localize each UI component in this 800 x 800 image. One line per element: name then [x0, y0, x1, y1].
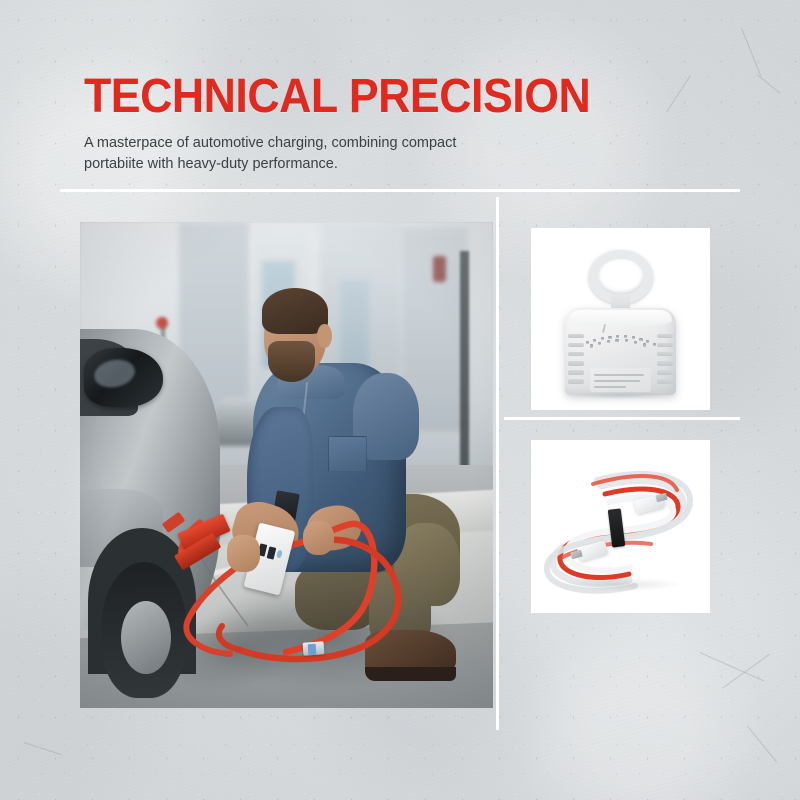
header-divider-rule: [60, 189, 740, 192]
device-vent-slot: [568, 361, 584, 366]
page-title: TECHNICAL PRECISION: [84, 72, 590, 122]
page-subtitle: A masterpace of automotive charging, com…: [84, 133, 554, 175]
main-lifestyle-photo: [80, 222, 493, 708]
scene-cable-connector-tip: [308, 644, 317, 655]
device-vent-slot: [568, 379, 584, 384]
device-vent-slot: [657, 370, 673, 375]
device-top-bevel: [569, 310, 673, 326]
product-photo-jump-starter-rear: [531, 228, 710, 410]
photo-scene: [80, 222, 493, 708]
subtitle-line-1: A masterpace of automotive charging, com…: [84, 135, 456, 151]
subtitle-line-2: portabiite with heavy-duty performance.: [84, 156, 338, 172]
product-marketing-poster: TECHNICAL PRECISION A masterpace of auto…: [0, 0, 800, 800]
device-vent-slot: [568, 334, 584, 339]
cable-coil: [531, 440, 710, 613]
device-vent-slot: [657, 361, 673, 366]
device-vent-slot: [657, 343, 673, 348]
device-vent-slot: [657, 352, 673, 357]
device-label-text-line: [594, 380, 641, 382]
product-photo-charging-cable: [531, 440, 710, 613]
scene-person-hand-right: [303, 521, 334, 555]
scene-person-hand-left: [227, 535, 260, 571]
cable-contact-shadow: [560, 578, 682, 590]
device-dot-grille: [578, 330, 664, 352]
device-label-text-line: [594, 374, 644, 376]
device-vent-slot: [657, 334, 673, 339]
device-vent-slot: [568, 343, 584, 348]
device-contact-shadow: [570, 392, 670, 399]
column-divider-rule: [496, 197, 499, 730]
scene-jumper-cables: [80, 222, 493, 708]
right-column-divider-rule: [504, 417, 740, 420]
device-vent-slot: [568, 370, 584, 375]
device-vent-slot: [568, 352, 584, 357]
device-vent-slot: [657, 379, 673, 384]
